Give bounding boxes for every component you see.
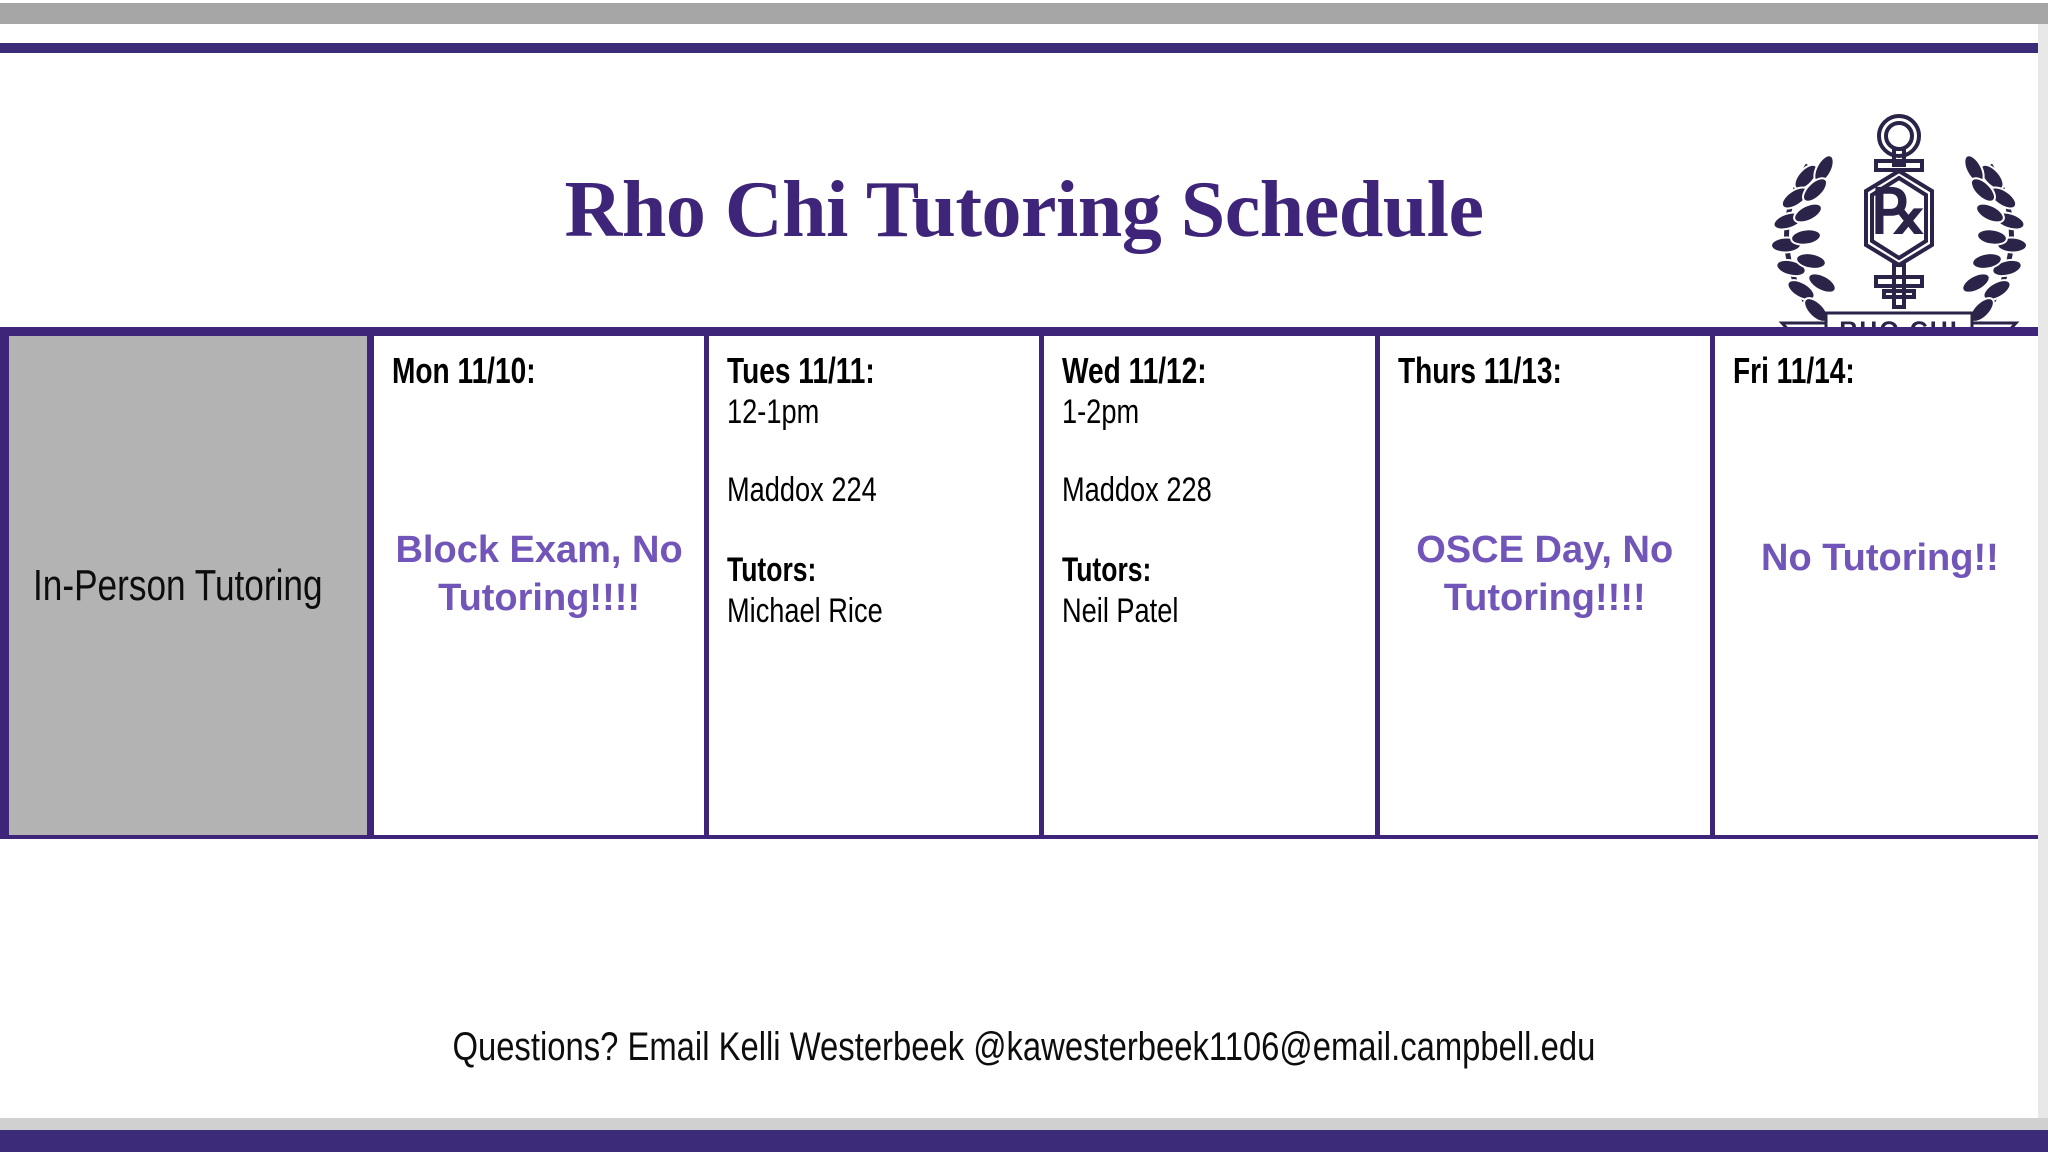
day-column-tuesday: Tues 11/11: 12-1pm Maddox 224 Tutors: Mi… [709,336,1044,835]
slide-header: Rho Chi Tutoring Schedule [0,53,2048,325]
day-notice: OSCE Day, No Tutoring!!!! [1398,526,1692,622]
row-label-text: In-Person Tutoring [33,562,323,610]
bottom-gray-bar [0,1118,2048,1130]
rho-chi-logo: ℞ RHO CHI [1768,105,2030,365]
laurel-left-icon [1771,152,1839,327]
row-label-cell: In-Person Tutoring [0,336,374,835]
top-purple-rule [0,43,2048,53]
day-heading: Wed 11/12: [1062,350,1291,392]
day-room: Maddox 224 [727,470,962,510]
day-column-wednesday: Wed 11/12: 1-2pm Maddox 228 Tutors: Neil… [1044,336,1379,835]
bottom-purple-bar [0,1130,2048,1152]
footer-contact-note: Questions? Email Kelli Westerbeek @kawes… [0,1023,2048,1071]
day-column-monday: Mon 11/10: Block Exam, No Tutoring!!!! [374,336,709,835]
day-heading: Fri 11/14: [1733,350,1962,392]
laurel-right-icon [1959,152,2027,327]
top-gray-bar [0,3,2048,24]
day-room: Maddox 228 [1062,470,1297,510]
day-heading: Thurs 11/13: [1398,350,1627,392]
right-margin-strip [2038,24,2048,1118]
day-heading: Tues 11/11: [727,350,956,392]
tutor-name: Michael Rice [727,590,962,632]
day-notice: No Tutoring!! [1733,534,2027,582]
tutor-name: Neil Patel [1062,590,1297,632]
rx-symbol-text: ℞ [1871,179,1927,247]
footer-contact-text: Questions? Email Kelli Westerbeek @kawes… [453,1023,1596,1071]
day-column-friday: Fri 11/14: No Tutoring!! [1715,336,2048,835]
day-time: 1-2pm [1062,392,1297,432]
day-heading: Mon 11/10: [392,350,621,392]
page-title: Rho Chi Tutoring Schedule [0,168,2048,252]
day-column-thursday: Thurs 11/13: OSCE Day, No Tutoring!!!! [1380,336,1715,835]
day-notice: Block Exam, No Tutoring!!!! [392,526,686,622]
tutors-label: Tutors: [1062,550,1291,590]
tutors-label: Tutors: [727,550,956,590]
day-time: 12-1pm [727,392,962,432]
schedule-table: In-Person Tutoring Mon 11/10: Block Exam… [0,327,2048,839]
